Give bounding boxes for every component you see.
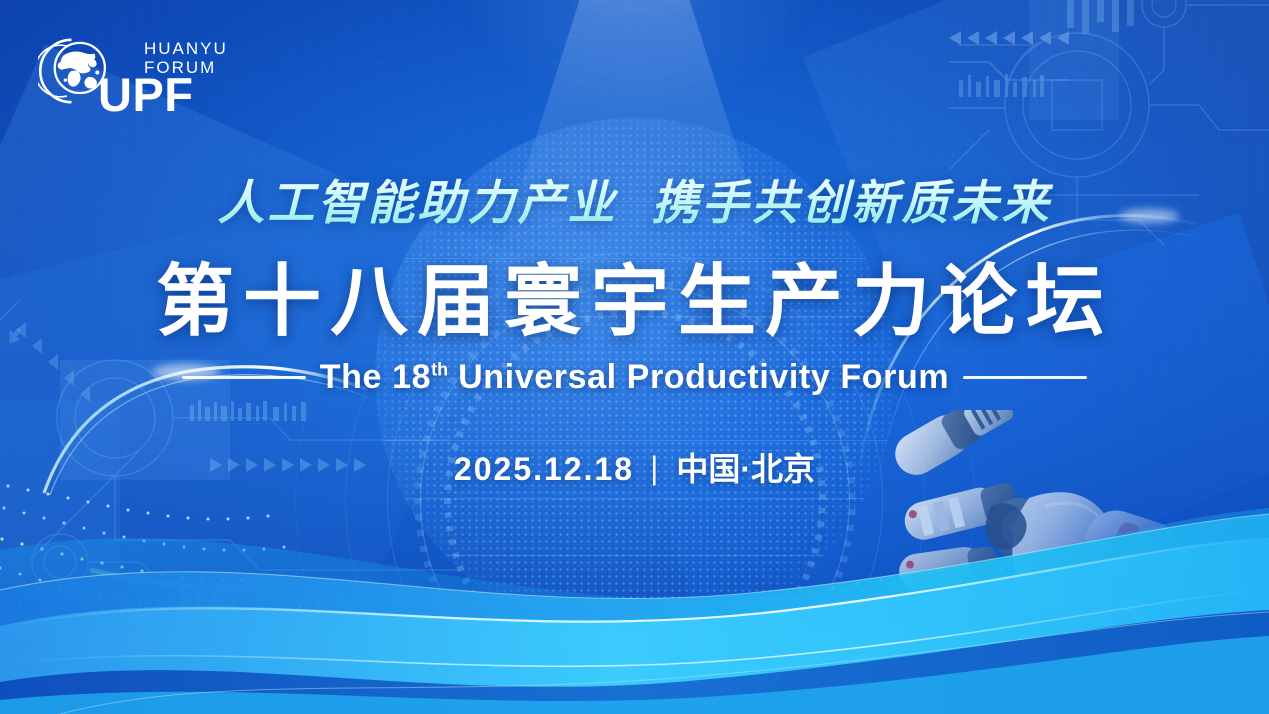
event-meta: 2025.12.18|中国·北京	[0, 444, 1269, 490]
subtitle-prefix: The 18	[320, 358, 431, 396]
subtitle-row: The 18th Universal Productivity Forum	[0, 358, 1269, 397]
poster-content: HUANYU FORUM UPF 人工智能助力产业携手共创新质未来 第十八届寰宇…	[0, 0, 1269, 714]
poster-tagline: 人工智能助力产业携手共创新质未来	[0, 164, 1269, 233]
poster-canvas: HUANYU FORUM UPF 人工智能助力产业携手共创新质未来 第十八届寰宇…	[0, 0, 1269, 714]
tagline-part2: 携手共创新质未来	[652, 178, 1052, 230]
poster-title: 第十八届寰宇生产力论坛	[0, 254, 1269, 348]
tagline-part1: 人工智能助力产业	[218, 178, 618, 230]
rule-left	[182, 376, 306, 379]
subtitle-ordinal: th	[431, 360, 448, 380]
brand-logo[interactable]: HUANYU FORUM UPF	[38, 33, 228, 115]
event-date: 2025.12.18	[454, 451, 634, 487]
brand-wordmark: HUANYU FORUM UPF	[110, 33, 228, 115]
event-location: 中国·北京	[676, 451, 815, 487]
rule-right	[963, 376, 1087, 379]
brand-acronym: UPF	[98, 75, 228, 115]
brand-line1: HUANYU	[110, 39, 228, 58]
subtitle-rest: Universal Productivity Forum	[458, 358, 949, 396]
poster-subtitle: The 18th Universal Productivity Forum	[320, 358, 949, 397]
meta-separator: |	[650, 450, 660, 487]
